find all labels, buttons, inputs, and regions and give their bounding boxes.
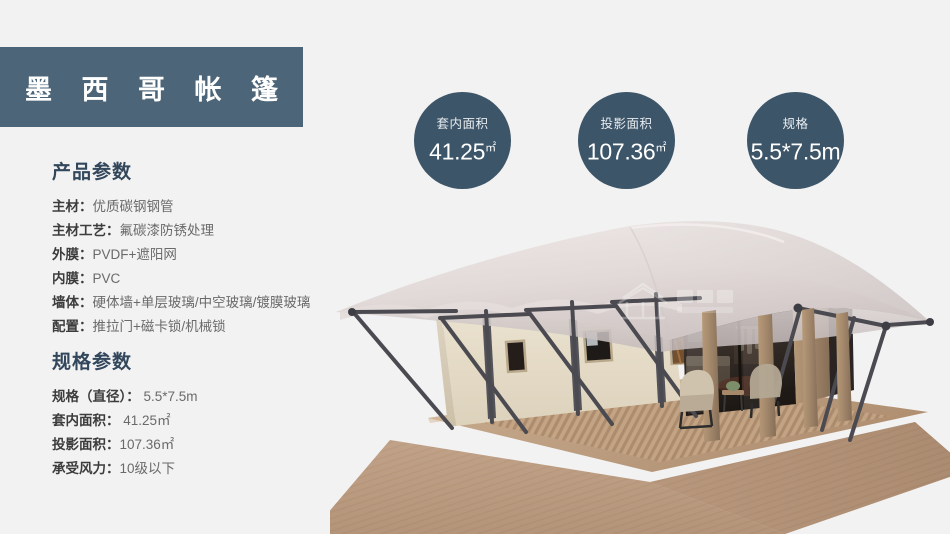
spec-value: PVDF+遮阳网 — [93, 247, 177, 262]
stat-badge-interior-area: 套内面积 41.25㎡ — [414, 92, 511, 189]
spec-label: 规格（直径）： — [52, 389, 140, 404]
stat-badge-projected-area: 投影面积 107.36㎡ — [578, 92, 675, 189]
stat-label: 投影面积 — [600, 116, 652, 132]
stat-label: 套内面积 — [436, 116, 488, 132]
slide-canvas: 墨 西 哥 帐 篷 产品参数 主材：优质碳钢钢管 主材工艺：氟碳漆防锈处理 外膜… — [0, 0, 950, 534]
spec-label: 套内面积： — [52, 413, 120, 428]
stat-label: 规格 — [782, 116, 808, 132]
spec-label: 投影面积： — [52, 437, 120, 452]
spec-value: 10级以下 — [120, 461, 176, 476]
spec-value: 107.36㎡ — [120, 437, 175, 452]
spec-value: 41.25㎡ — [120, 413, 171, 428]
stat-value: 41.25㎡ — [429, 134, 496, 166]
spec-value: 氟碳漆防锈处理 — [120, 223, 215, 238]
stat-badge-dimensions: 规格 5.5*7.5m — [747, 92, 844, 189]
title-banner: 墨 西 哥 帐 篷 — [0, 47, 303, 127]
spec-row: 主材工艺：氟碳漆防锈处理 — [52, 219, 352, 243]
spec-row: 外膜：PVDF+遮阳网 — [52, 243, 352, 267]
spec-value: 推拉门+磁卡锁/机械锁 — [93, 319, 226, 334]
spec-row: 内膜：PVC — [52, 267, 352, 291]
stat-unit: ㎡ — [485, 142, 496, 154]
spec-label: 主材工艺： — [52, 223, 120, 238]
spec-value: 硬体墙+单层玻璃/中空玻璃/镀膜玻璃 — [93, 295, 311, 310]
spec-label: 配置： — [52, 319, 93, 334]
section-specification-parameters: 规格参数 规格（直径）： 5.5*7.5m 套内面积： 41.25㎡ 投影面积：… — [52, 353, 352, 481]
spec-label: 外膜： — [52, 247, 93, 262]
spec-value: 5.5*7.5m — [140, 389, 198, 404]
spec-row: 配置：推拉门+磁卡锁/机械锁 — [52, 315, 352, 339]
spec-label: 主材： — [52, 199, 93, 214]
spec-label: 内膜： — [52, 271, 93, 286]
spec-value: 优质碳钢钢管 — [93, 199, 174, 214]
spec-row: 规格（直径）： 5.5*7.5m — [52, 385, 352, 409]
stat-value: 5.5*7.5m — [751, 134, 841, 166]
section-heading-product: 产品参数 — [52, 163, 352, 184]
spec-row: 投影面积：107.36㎡ — [52, 433, 352, 457]
spec-row: 套内面积： 41.25㎡ — [52, 409, 352, 433]
page-title: 墨 西 哥 帐 篷 — [14, 68, 289, 107]
spec-row: 承受风力：10级以下 — [52, 457, 352, 481]
stat-value: 107.36㎡ — [587, 134, 666, 166]
spec-label: 承受风力： — [52, 461, 120, 476]
specification-panel: 产品参数 主材：优质碳钢钢管 主材工艺：氟碳漆防锈处理 外膜：PVDF+遮阳网 … — [52, 163, 352, 481]
section-heading-specification: 规格参数 — [52, 353, 352, 374]
stat-unit: ㎡ — [655, 142, 666, 154]
tent-render-image — [330, 190, 950, 534]
spec-label: 墙体： — [52, 295, 93, 310]
spec-row: 主材：优质碳钢钢管 — [52, 195, 352, 219]
spec-row: 墙体：硬体墙+单层玻璃/中空玻璃/镀膜玻璃 — [52, 291, 352, 315]
spec-value: PVC — [93, 271, 121, 286]
section-product-parameters: 产品参数 主材：优质碳钢钢管 主材工艺：氟碳漆防锈处理 外膜：PVDF+遮阳网 … — [52, 163, 352, 339]
